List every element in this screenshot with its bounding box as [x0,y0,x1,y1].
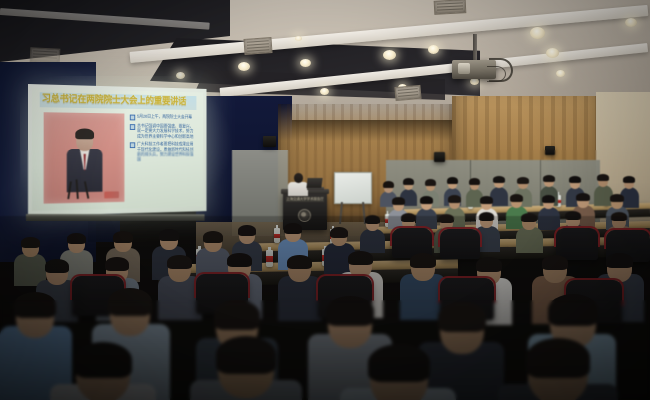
chair [440,229,480,259]
hair [214,300,260,330]
ceiling-vent-2 [434,0,467,15]
hair [203,231,223,243]
wall-speaker-mid-icon [434,152,445,162]
hair [383,181,394,188]
ceiling-smoke-detector [295,36,302,41]
screen-bottom-frame [26,214,205,221]
hair [410,253,436,268]
hair [480,196,493,204]
downlight-12 [176,72,185,79]
hair [108,288,152,316]
slide-photo [44,112,125,203]
hair [403,178,414,185]
bullet-text: 5月28日上午，两院院士大会开幕 [137,114,192,121]
downlight-10 [470,78,479,85]
hair [510,194,523,202]
hair [326,296,374,326]
hair [476,257,502,272]
bullet-marker-icon [130,115,135,121]
hair [167,255,192,269]
hair [521,213,537,222]
slide-watermark [104,191,119,198]
hair [392,197,405,205]
presenter-body [288,182,308,196]
podium-banner-text: 上海交通大学学术报告厅 [286,196,324,202]
downlight-7 [625,18,637,27]
hair [348,251,373,265]
downlight-5 [530,27,545,39]
hair [438,302,486,332]
hair [542,195,555,203]
hair [287,255,312,269]
projection-screen: 习总书记在两院院士大会上的重要讲话 5月28日上午，两院院士大会开幕 [28,84,207,216]
hair [448,195,461,203]
hair [284,223,302,234]
hair [439,214,454,223]
water-bottle [266,250,273,267]
hair [227,253,252,267]
hair [610,194,624,202]
torso [360,229,385,253]
wall-speaker-left-icon [263,136,276,147]
downlight-2 [300,59,311,67]
downlight-11 [556,70,565,77]
hair [569,176,581,183]
hair [447,177,458,184]
hair [238,225,256,236]
hair [611,212,627,221]
hair [576,193,590,201]
hair [420,196,433,204]
hair [401,213,416,222]
hair [216,336,276,374]
bullet-marker-icon [130,143,135,149]
slide-title: 习总书记在两院院士大会上的重要讲话 [42,91,198,110]
slide-surface: 习总书记在两院院士大会上的重要讲话 5月28日上午，两院院士大会开幕 [32,88,203,211]
hair [548,294,598,326]
hair [469,178,480,185]
projector-lens [458,63,470,74]
hair [517,177,529,184]
hair [368,344,430,382]
figure-hair [75,128,94,139]
chair [556,228,598,260]
hair [597,174,609,181]
bullet-text: 总书记强调中国要强盛、要复兴，就一定要大力发展科学技术，努力成为世界主要科学中心… [137,123,195,139]
ceiling-vent-3 [394,85,421,101]
water-bottle [274,228,280,243]
presenter-head [294,173,303,183]
downlight-6 [546,48,559,58]
downlight-3 [383,50,396,60]
hair [365,215,380,224]
hair [67,233,86,244]
downlight-1 [238,62,250,71]
projector-cable-secondary [487,66,506,82]
hair [105,257,129,271]
hair [623,176,635,183]
hair [159,229,179,241]
hair [493,176,505,183]
torso [538,207,560,230]
hair [330,227,348,238]
hair [425,179,436,186]
wall-speaker-right-icon [545,146,555,155]
hair [543,175,555,182]
hair [565,211,581,220]
hair [542,255,568,270]
ceiling-vent-1 [243,37,272,55]
lecture-hall-photo: 习总书记在两院院士大会上的重要讲话 5月28日上午，两院院士大会开幕 [0,0,650,400]
torso [516,227,543,253]
slide-bullet-item: 广大科技工作者要把科技成果应用于现代化建设，勇做新时代科技创新的排头兵，努力建设… [130,142,195,163]
hair [113,231,133,243]
slide-bullet-item: 总书记强调中国要强盛、要复兴，就一定要大力发展科学技术，努力成为世界主要科学中心… [130,123,195,139]
hair [14,292,56,318]
torso [490,187,508,206]
downlight-8 [320,88,329,95]
hair [74,342,132,378]
hair [21,237,40,248]
laptop-screen [306,178,322,188]
slide-bullet-item: 5月28日上午，两院院士大会开幕 [130,114,195,122]
hair [479,212,494,221]
slide-bullet-list: 5月28日上午，两院院士大会开幕 总书记强调中国要强盛、要复兴，就一定要大力发展… [130,114,195,204]
hair [526,338,590,378]
bullet-text: 广大科技工作者要把科技成果应用于现代化建设，勇做新时代科技创新的排头兵，努力建设… [137,142,195,163]
downlight-4 [428,45,439,54]
bullet-marker-icon [130,124,135,130]
hair [606,253,633,268]
whiteboard [334,172,372,204]
hair [45,259,69,273]
university-crest-center [301,212,306,217]
